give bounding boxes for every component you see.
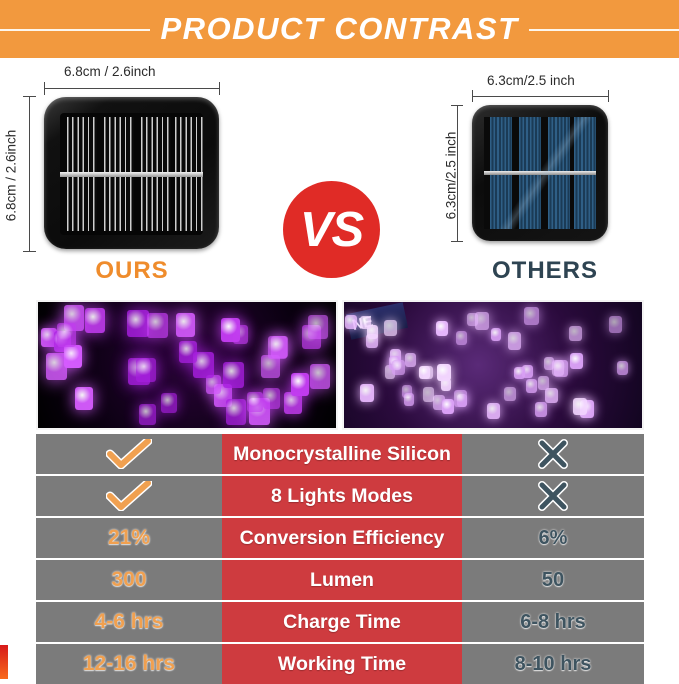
banner-rule-left xyxy=(0,29,152,31)
feature-cell: Conversion Efficiency xyxy=(222,518,462,558)
others-value: 6% xyxy=(539,527,568,550)
feature-cell: 8 Lights Modes xyxy=(222,476,462,516)
others-cell: 6-8 hrs xyxy=(462,602,644,642)
table-row: 8 Lights Modes xyxy=(36,476,644,516)
others-led-photo: NE xyxy=(342,300,644,430)
comparison-table: Monocrystalline Silicon8 Lights Modes21%… xyxy=(36,434,644,644)
ours-width-dimension: 6.8cm / 2.6inch xyxy=(64,64,156,79)
feature-cell: Charge Time xyxy=(222,602,462,642)
others-panel-glare xyxy=(484,117,596,229)
others-height-tick-bottom xyxy=(451,241,463,242)
led-photo-row: NE xyxy=(36,300,644,430)
cross-icon xyxy=(538,481,568,511)
table-row: 12-16 hrsWorking Time8-10 hrs xyxy=(36,644,644,684)
ours-value: 12-16 hrs xyxy=(83,652,175,676)
table-row: 4-6 hrsCharge Time6-8 hrs xyxy=(36,602,644,642)
ours-cell: 4-6 hrs xyxy=(36,602,222,642)
product-contrast-infographic: PRODUCT CONTRAST 6.8cm / 2.6inch 6.8cm /… xyxy=(0,0,679,679)
ours-height-dimension: 6.8cm / 2.6inch xyxy=(3,130,18,222)
others-width-tick-left xyxy=(472,90,473,102)
ours-height-tick-top xyxy=(23,96,36,97)
others-label: OTHERS xyxy=(480,257,610,285)
ours-cell: 300 xyxy=(36,560,222,600)
ours-cell: 21% xyxy=(36,518,222,558)
others-value: 8-10 hrs xyxy=(515,653,592,676)
others-cell xyxy=(462,476,644,516)
vs-badge: VS xyxy=(283,181,380,278)
page-title: PRODUCT CONTRAST xyxy=(150,11,528,47)
ours-cell xyxy=(36,476,222,516)
others-cell: 8-10 hrs xyxy=(462,644,644,684)
others-height-tick-top xyxy=(451,105,463,106)
banner-rule-right xyxy=(527,29,679,31)
ours-value: 21% xyxy=(108,526,150,550)
others-width-dimension: 6.3cm/2.5 inch xyxy=(487,73,575,88)
others-width-dimline xyxy=(472,96,609,97)
ours-width-tick-left xyxy=(44,82,45,95)
vs-label: VS xyxy=(300,202,363,258)
ours-height-tick-bottom xyxy=(23,251,36,252)
others-value: 50 xyxy=(542,569,564,592)
compare-section: 6.8cm / 2.6inch 6.8cm / 2.6inch OURS VS … xyxy=(0,58,679,296)
table-row: Monocrystalline Silicon xyxy=(36,434,644,474)
others-cell: 50 xyxy=(462,560,644,600)
ours-panel-busbar xyxy=(60,172,203,177)
feature-cell: Monocrystalline Silicon xyxy=(222,434,462,474)
header-banner: PRODUCT CONTRAST xyxy=(0,0,679,58)
others-cell xyxy=(462,434,644,474)
others-solar-panel xyxy=(472,105,608,241)
ours-value: 300 xyxy=(111,568,146,592)
feature-cell: Lumen xyxy=(222,560,462,600)
table-row: 21%Conversion Efficiency6% xyxy=(36,518,644,558)
corner-accent xyxy=(0,645,8,679)
others-value: 6-8 hrs xyxy=(520,611,586,634)
check-icon xyxy=(106,439,152,469)
others-width-tick-right xyxy=(608,90,609,102)
ours-width-dimline xyxy=(44,88,220,89)
ours-label: OURS xyxy=(72,257,192,285)
ours-solar-panel xyxy=(44,97,219,249)
others-height-dimline xyxy=(457,105,458,242)
check-icon xyxy=(106,481,152,511)
cross-icon xyxy=(538,439,568,469)
ours-panel-cells xyxy=(60,113,203,235)
ours-cell xyxy=(36,434,222,474)
ours-cell: 12-16 hrs xyxy=(36,644,222,684)
others-cell: 6% xyxy=(462,518,644,558)
ours-height-dimline xyxy=(29,96,30,252)
ours-led-photo xyxy=(36,300,338,430)
feature-cell: Working Time xyxy=(222,644,462,684)
table-row: 300Lumen50 xyxy=(36,560,644,600)
ours-value: 4-6 hrs xyxy=(95,610,164,634)
ours-width-tick-right xyxy=(219,82,220,95)
others-panel-cells xyxy=(484,117,596,229)
